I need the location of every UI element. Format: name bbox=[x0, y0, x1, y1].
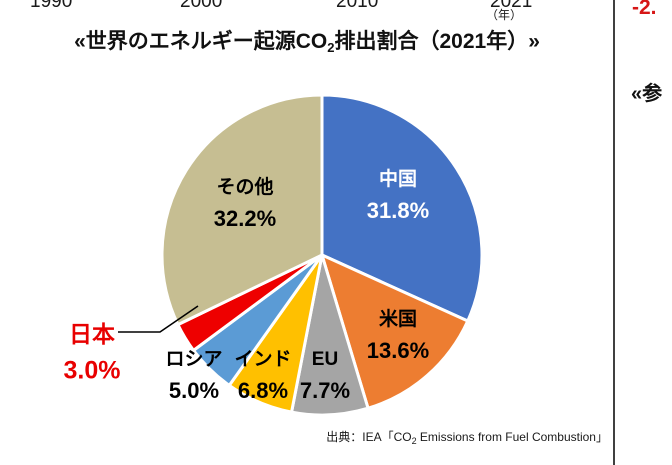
pie-chart: 中国31.8%米国13.6%EU7.7%インド6.8%ロシア5.0%日本3.0%… bbox=[0, 60, 614, 425]
source-suffix: Emissions from Fuel Combustion」 bbox=[417, 430, 608, 444]
pie-label-name-インド: インド bbox=[234, 349, 291, 370]
pie-label-name-日本: 日本 bbox=[69, 321, 115, 347]
axis-year-strip: 1990 2000 2010 2021 （年） bbox=[0, 0, 614, 22]
pie-label-name-その他: その他 bbox=[216, 175, 273, 198]
axis-year-2000: 2000 bbox=[180, 0, 222, 13]
pie-label-value-インド: 6.8% bbox=[238, 378, 288, 403]
right-panel-heading: «参 bbox=[631, 77, 662, 106]
source-subscript: 2 bbox=[412, 436, 417, 446]
pie-label-value-中国: 31.8% bbox=[367, 198, 429, 223]
pie-label-value-その他: 32.2% bbox=[214, 206, 276, 231]
pie-label-value-ロシア: 5.0% bbox=[169, 378, 219, 403]
pie-label-value-日本: 3.0% bbox=[64, 357, 121, 385]
source-prefix: 出典：IEA「CO bbox=[326, 430, 411, 444]
chart-title-suffix: 排出割合（2021年）» bbox=[335, 30, 540, 53]
pie-chart-svg: 中国31.8%米国13.6%EU7.7%インド6.8%ロシア5.0%日本3.0%… bbox=[0, 60, 614, 425]
axis-year-2010: 2010 bbox=[336, 0, 378, 13]
source-note: 出典：IEA「CO2 Emissions from Fuel Combustio… bbox=[0, 428, 608, 445]
pie-label-name-EU: EU bbox=[312, 349, 338, 370]
pie-label-value-EU: 7.7% bbox=[300, 378, 350, 403]
axis-year-1990: 1990 bbox=[30, 0, 72, 13]
pie-label-name-米国: 米国 bbox=[379, 307, 417, 330]
right-panel-red-value: -2. bbox=[632, 0, 657, 20]
pie-label-value-米国: 13.6% bbox=[367, 338, 429, 363]
slide-canvas: 1990 2000 2010 2021 （年） -2. «参 «世界のエネルギー… bbox=[0, 0, 672, 465]
pie-label-name-ロシア: ロシア bbox=[165, 349, 222, 370]
chart-title-subscript: 2 bbox=[327, 40, 334, 55]
pie-label-name-中国: 中国 bbox=[379, 167, 417, 190]
chart-title: «世界のエネルギー起源CO2排出割合（2021年）» bbox=[0, 25, 614, 55]
chart-title-prefix: «世界のエネルギー起源CO bbox=[74, 30, 327, 53]
axis-unit-label: （年） bbox=[486, 6, 522, 23]
